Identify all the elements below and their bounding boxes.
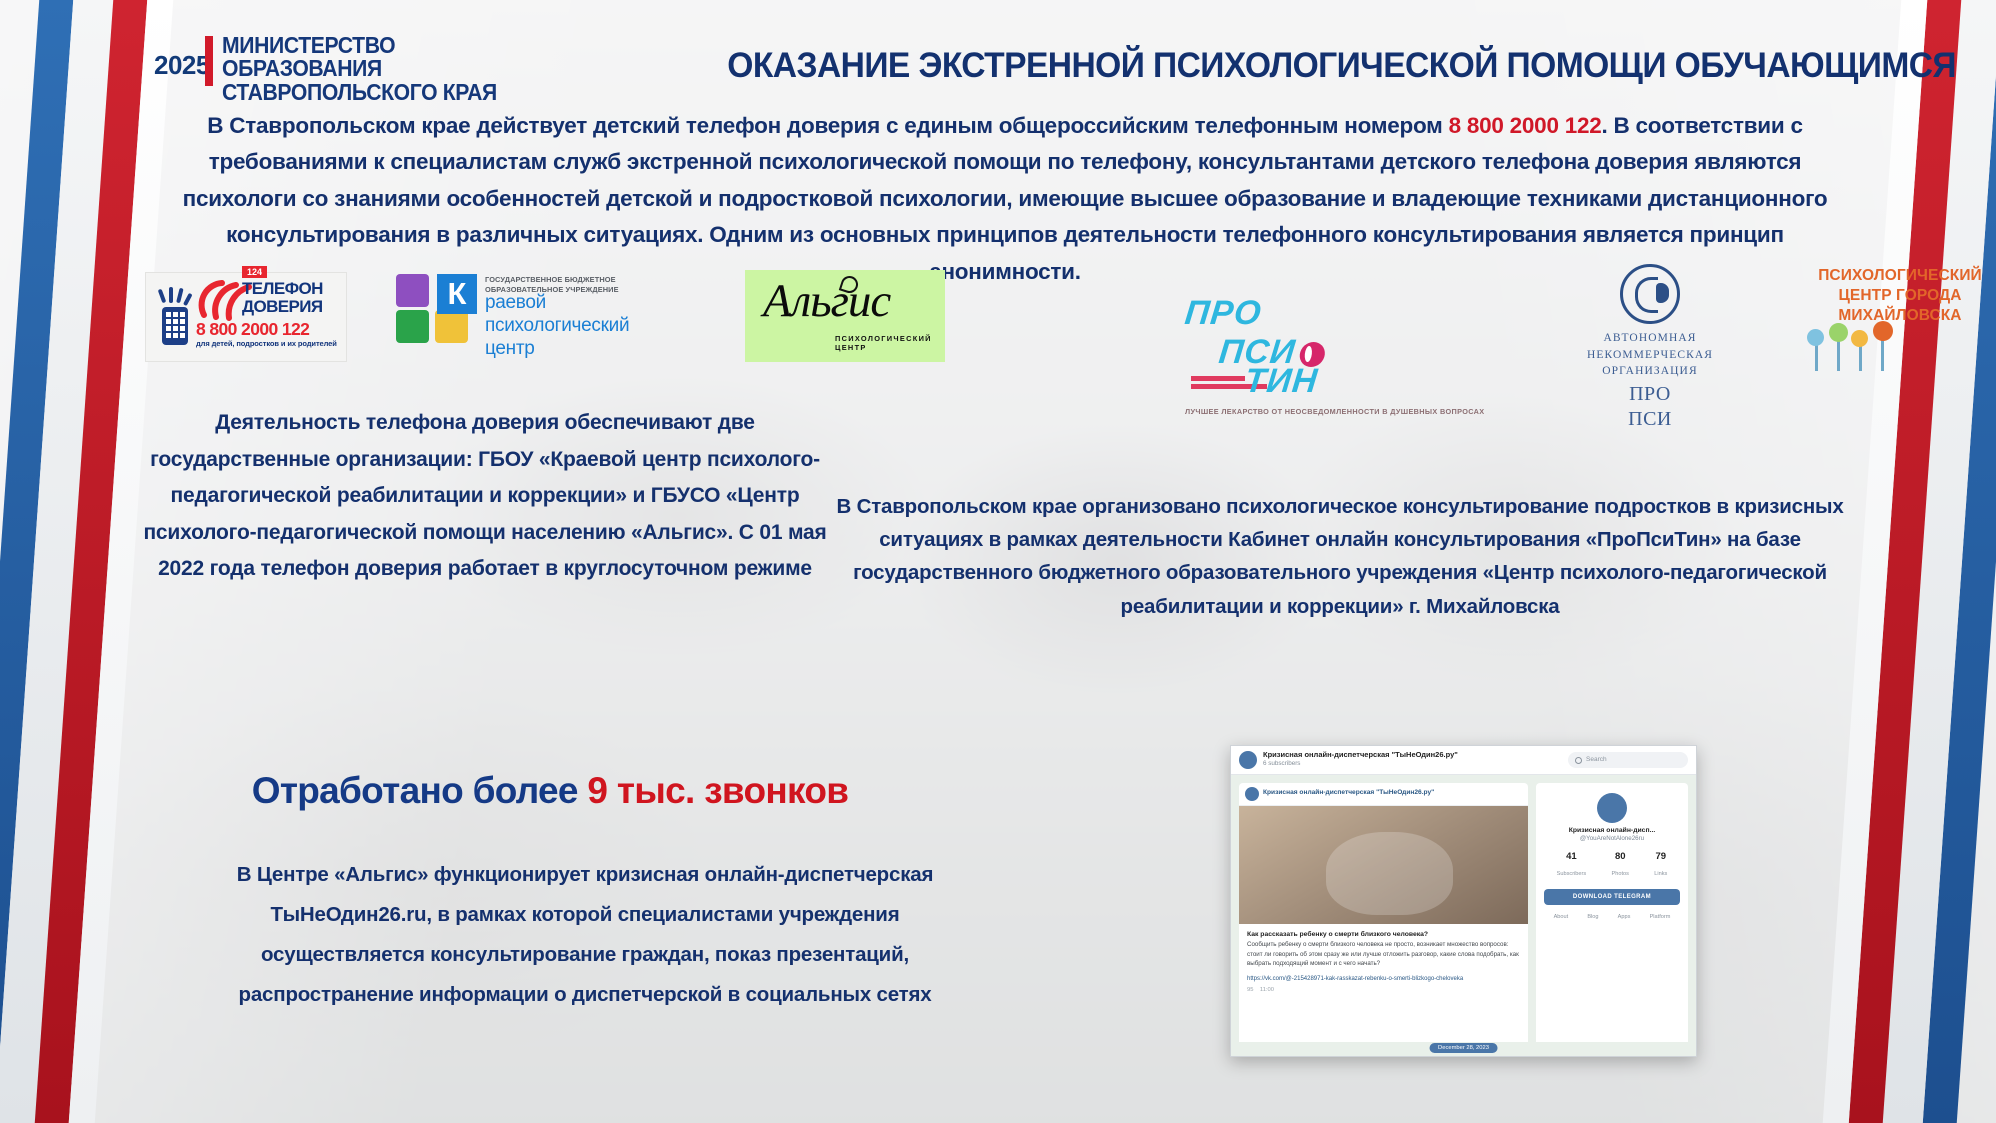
calls-prefix: Отработано более: [252, 770, 588, 811]
mihaylovsk-balloons-icon: [1785, 329, 1996, 375]
trust-phone-line-1: ТЕЛЕФОН: [242, 279, 323, 299]
vk-stat-label-0: Subscribers: [1557, 871, 1587, 877]
vk-post-link[interactable]: https://vk.com/@-215428971-kak-rasskazat…: [1239, 969, 1528, 983]
kpc-square-green: [396, 310, 429, 343]
partner-logos: 124 ТЕЛЕФОН ДОВЕРИЯ 8 800 2000 122 для д…: [145, 272, 1865, 382]
intro-part-2: . В соответствии с требованиями к специа…: [183, 113, 1828, 284]
ano-line-3: ОРГАНИЗАЦИЯ: [1602, 365, 1697, 377]
trust-phone-logo-number: 8 800 2000 122: [196, 319, 309, 340]
trust-phone-number: 8 800 2000 122: [1449, 113, 1602, 138]
download-telegram-button[interactable]: DOWNLOAD TELEGRAM: [1544, 889, 1680, 905]
trust-phone-line-2: ДОВЕРИЯ: [242, 297, 323, 317]
vk-post-header: Кризисная онлайн-диспетчерская "ТыНеОдин…: [1239, 783, 1528, 806]
left-description: Деятельность телефона доверия обеспечива…: [140, 405, 830, 588]
vk-post-card: Кризисная онлайн-диспетчерская "ТыНеОдин…: [1239, 783, 1528, 1049]
vk-stat-item-1: 80 Photos: [1612, 851, 1629, 880]
kpc-line-3: центр: [485, 338, 535, 360]
kpc-line-2: психологический: [485, 315, 629, 337]
vk-stats: 41 Subscribers 80 Photos 79 Links: [1544, 851, 1680, 880]
logo-propsitin: ПРО ПСИ ТИН ЛУЧШЕЕ ЛЕКАРСТВО ОТ НЕОСВЕДО…: [1185, 294, 1435, 414]
vk-post-views: 95: [1247, 987, 1253, 993]
vk-footer-link-2[interactable]: Apps: [1618, 914, 1631, 920]
vk-stat-item-2: 79 Links: [1654, 851, 1667, 880]
propsitin-line-3: ТИН: [1243, 362, 1437, 401]
year-label: 2025: [154, 50, 210, 81]
vk-footer-link-1[interactable]: Blog: [1587, 914, 1598, 920]
ano-big-1: ПРО: [1535, 384, 1765, 405]
vk-post-avatar: [1245, 787, 1259, 801]
head-profile-icon: [1620, 264, 1680, 324]
vk-post-meta: 95 11:00: [1239, 983, 1528, 997]
kpc-line-1: раевой: [485, 292, 546, 314]
propsitin-tagline: ЛУЧШЕЕ ЛЕКАРСТВО ОТ НЕОСВЕДОМЛЕННОСТИ В …: [1185, 407, 1435, 416]
mihaylovsk-line-3: МИХАЙЛОВСКА: [1838, 307, 1961, 324]
vk-stat-value-0: 41: [1557, 851, 1587, 862]
algis-subtitle: ПСИХОЛОГИЧЕСКИЙ ЦЕНТР: [835, 334, 945, 352]
vk-footer-link-0[interactable]: About: [1554, 914, 1569, 920]
vk-stat-value-2: 79: [1654, 851, 1667, 862]
algis-name: Альгис: [763, 274, 890, 328]
vk-group-avatar: [1239, 751, 1257, 769]
logo-algis: Альгис ПСИХОЛОГИЧЕСКИЙ ЦЕНТР: [745, 270, 945, 362]
ministry-name: МИНИСТЕРСТВО ОБРАЗОВАНИЯ СТАВРОПОЛЬСКОГО…: [222, 34, 552, 104]
slide-header: 2025 МИНИСТЕРСТВО ОБРАЗОВАНИЯ СТАВРОПОЛЬ…: [134, 28, 1956, 98]
vk-date-badge: December 28, 2023: [1429, 1043, 1498, 1053]
propsitin-bar-1: [1191, 376, 1245, 381]
vk-subscribers-label: 6 subscribers: [1263, 760, 1300, 767]
ministry-line-2: СТАВРОПОЛЬСКОГО КРАЯ: [222, 81, 526, 104]
vk-post-author: Кризисная онлайн-диспетчерская "ТыНеОдин…: [1263, 789, 1434, 796]
kpc-caption-1: ГОСУДАРСТВЕННОЕ БЮДЖЕТНОЕ: [485, 275, 616, 284]
vk-sidebar-name: Кризисная онлайн-дисп...: [1544, 827, 1680, 834]
hand-phone-icon: [154, 287, 200, 349]
vk-post-photo: [1239, 806, 1528, 924]
kpc-square-purple: [396, 274, 429, 307]
vk-screenshot: Кризисная онлайн-диспетчерская "ТыНеОдин…: [1230, 745, 1697, 1057]
red-tick-divider: [205, 36, 213, 86]
kpc-square-yellow: [435, 310, 468, 343]
bottom-description: В Центре «Альгис» функционирует кризисна…: [200, 855, 970, 1015]
vk-post-body: Сообщить ребенку о смерти близкого челов…: [1239, 940, 1528, 969]
vk-sidebar-avatar: [1597, 793, 1627, 823]
logo-trust-phone: 124 ТЕЛЕФОН ДОВЕРИЯ 8 800 2000 122 для д…: [145, 272, 347, 362]
vk-search-input[interactable]: Search: [1568, 752, 1688, 768]
vk-body: Кризисная онлайн-диспетчерская "ТыНеОдин…: [1231, 775, 1696, 1057]
trust-phone-subtitle: для детей, подростков и их родителей: [196, 339, 337, 348]
logo-regional-psychological-center: К ГОСУДАРСТВЕННОЕ БЮДЖЕТНОЕ ОБРАЗОВАТЕЛЬ…: [390, 274, 660, 358]
ano-line-1: АВТОНОМНАЯ: [1603, 332, 1696, 344]
vk-post-question: Как рассказать ребенку о смерти близкого…: [1239, 924, 1528, 940]
vk-stat-value-1: 80: [1612, 851, 1629, 862]
ano-line-2: НЕКОММЕРЧЕСКАЯ: [1587, 349, 1713, 361]
trust-phone-badge: 124: [242, 266, 267, 278]
vk-topbar: Кризисная онлайн-диспетчерская "ТыНеОдин…: [1231, 746, 1696, 775]
mihaylovsk-text: ПСИХОЛОГИЧЕСКИЙ ЦЕНТР ГОРОДА МИХАЙЛОВСКА: [1785, 266, 1996, 325]
kpc-letter-k: К: [437, 274, 477, 314]
vk-sidebar: Кризисная онлайн-дисп... @YouAreNotAlone…: [1536, 783, 1688, 1049]
vk-group-title: Кризисная онлайн-диспетчерская "ТыНеОдин…: [1263, 750, 1458, 759]
vk-stat-label-1: Photos: [1612, 871, 1629, 877]
slide: 2025 МИНИСТЕРСТВО ОБРАЗОВАНИЯ СТАВРОПОЛЬ…: [0, 0, 1996, 1123]
mihaylovsk-line-2: ЦЕНТР ГОРОДА: [1838, 287, 1961, 304]
mihaylovsk-line-1: ПСИХОЛОГИЧЕСКИЙ: [1818, 267, 1982, 284]
calls-highlight: 9 тыс. звонков: [587, 770, 848, 811]
vk-stat-item-0: 41 Subscribers: [1557, 851, 1587, 880]
vk-footer-link-3[interactable]: Platform: [1650, 914, 1671, 920]
ministry-line-1: МИНИСТЕРСТВО ОБРАЗОВАНИЯ: [222, 34, 526, 81]
propsitin-line-1: ПРО: [1183, 294, 1437, 333]
logo-mihaylovsk-center: ПСИХОЛОГИЧЕСКИЙ ЦЕНТР ГОРОДА МИХАЙЛОВСКА: [1785, 266, 1996, 396]
vk-post-time: 11:00: [1260, 987, 1274, 993]
intro-part-1: В Ставропольском крае действует детский …: [207, 113, 1448, 138]
right-description: В Ставропольском крае организовано психо…: [830, 490, 1850, 623]
logo-ano-propsi: АВТОНОМНАЯ НЕКОММЕРЧЕСКАЯ ОРГАНИЗАЦИЯ ПР…: [1535, 264, 1765, 404]
vk-sidebar-handle: @YouAreNotAlone26ru: [1544, 835, 1680, 842]
ano-text: АВТОНОМНАЯ НЕКОММЕРЧЕСКАЯ ОРГАНИЗАЦИЯ: [1535, 330, 1765, 380]
vk-footer-links: About Blog Apps Platform: [1544, 914, 1680, 920]
page-title: ОКАЗАНИЕ ЭКСТРЕННОЙ ПСИХОЛОГИЧЕСКОЙ ПОМО…: [579, 46, 1956, 86]
vk-stat-label-2: Links: [1654, 871, 1667, 877]
ano-big-2: ПСИ: [1535, 409, 1765, 430]
calls-headline: Отработано более 9 тыс. звонков: [180, 770, 920, 812]
intro-paragraph: В Ставропольском крае действует детский …: [150, 108, 1860, 290]
